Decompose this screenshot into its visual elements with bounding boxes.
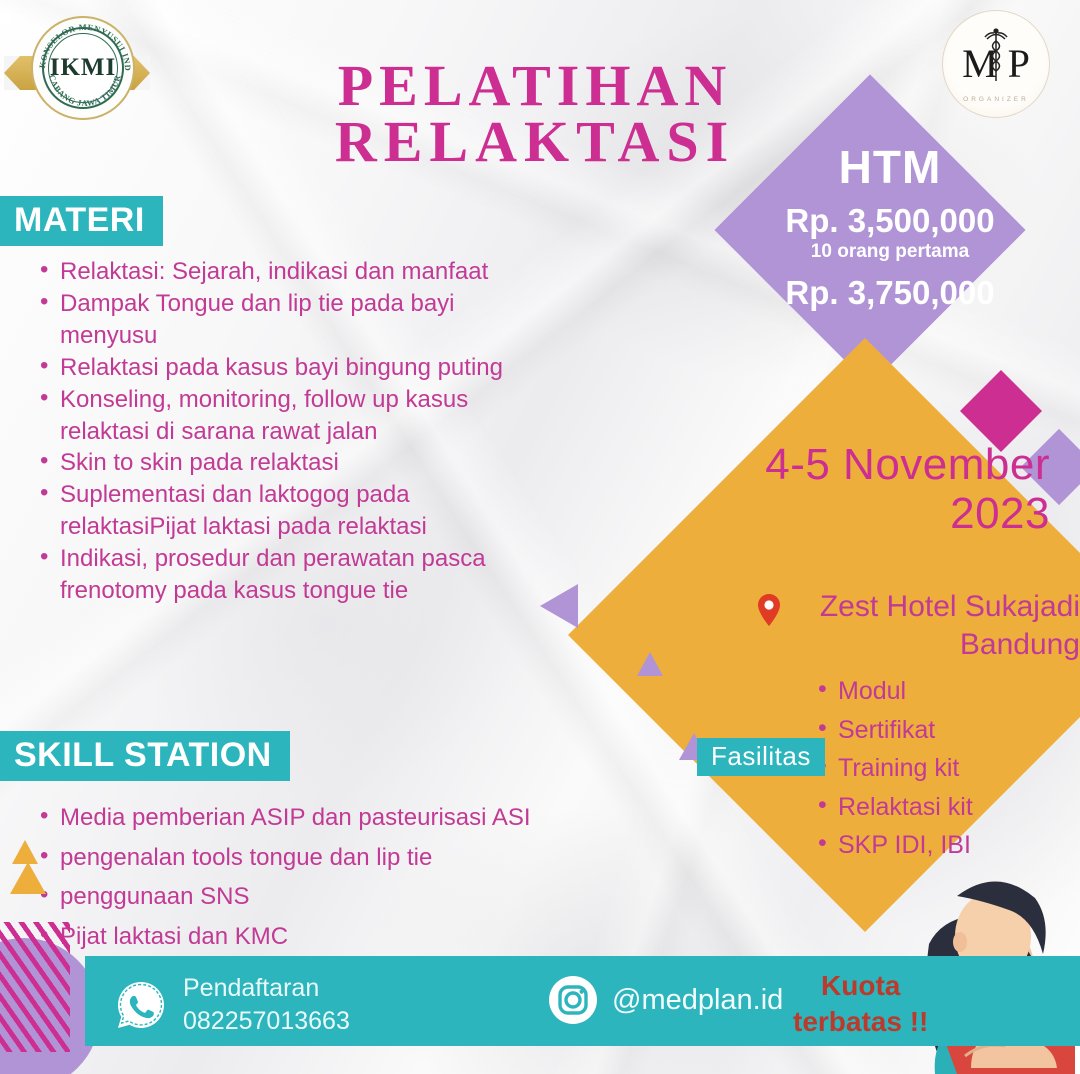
list-item: Indikasi, prosedur dan perawatan pasca f… xyxy=(40,543,518,607)
list-item: Media pemberian ASIP dan pasteurisasi AS… xyxy=(40,798,640,838)
title-line-1: PELATIHAN xyxy=(300,58,770,114)
list-item: Dampak Tongue dan lip tie pada bayi meny… xyxy=(40,288,518,352)
caduceus-icon xyxy=(981,27,1011,85)
map-pin-icon xyxy=(757,594,781,626)
instagram-handle: @medplan.id xyxy=(612,984,783,1017)
htm-title: HTM xyxy=(760,140,1020,194)
ikmi-monogram: IKMI xyxy=(33,18,133,118)
instagram-contact[interactable]: @medplan.id xyxy=(548,975,783,1025)
list-item: Relaktasi pada kasus bayi bingung puting xyxy=(40,352,518,384)
event-year: 2023 xyxy=(690,489,1050,538)
list-item: Relaktasi kit xyxy=(818,788,1068,827)
venue-line-2: Bandung xyxy=(735,626,1080,664)
quota-notice: Kuota terbatas !! xyxy=(793,968,928,1041)
event-date-block: 4-5 November 2023 xyxy=(690,440,1050,539)
htm-block: HTM Rp. 3,500,000 10 orang pertama Rp. 3… xyxy=(760,140,1020,312)
htm-price-early-note: 10 orang pertama xyxy=(760,241,1020,263)
list-item: Training kit xyxy=(818,749,1068,788)
list-item: Pijat laktasi dan KMC xyxy=(40,917,640,957)
list-item: SKP IDI, IBI xyxy=(818,826,1068,865)
poster-title: PELATIHAN RELAKTASI xyxy=(300,58,770,169)
whatsapp-text: Pendaftaran 082257013663 xyxy=(183,972,350,1038)
skill-station-list: Media pemberian ASIP dan pasteurisasi AS… xyxy=(40,798,640,956)
list-item: penggunaan SNS xyxy=(40,877,640,917)
triangle-decor-small xyxy=(637,652,663,676)
title-line-2: RELAKTASI xyxy=(300,114,770,170)
quota-line-2: terbatas !! xyxy=(793,1004,928,1040)
mp-subtitle: ORGANIZER xyxy=(943,96,1049,103)
yellow-triangle-decor-2 xyxy=(10,862,46,894)
materi-heading: MATERI xyxy=(0,196,163,246)
htm-price-regular: Rp. 3,750,000 xyxy=(760,274,1020,312)
event-venue-block: Zest Hotel Sukajadi Bandung xyxy=(735,588,1080,665)
event-date: 4-5 November xyxy=(690,440,1050,489)
list-item: Relaktasi: Sejarah, indikasi dan manfaat xyxy=(40,256,518,288)
yellow-triangle-decor-1 xyxy=(12,840,38,864)
fasilitas-list: Modul Sertifikat Training kit Relaktasi … xyxy=(818,672,1068,865)
list-item: pengenalan tools tongue dan lip tie xyxy=(40,838,640,878)
registration-label: Pendaftaran xyxy=(183,972,350,1005)
materi-list: Relaktasi: Sejarah, indikasi dan manfaat… xyxy=(40,256,518,607)
ikmi-logo: IKATAN KONSELOR MENYUSUI INDONESIA CABAN… xyxy=(18,14,136,132)
diagonal-stripes-decor xyxy=(0,922,70,1052)
mp-organizer-logo: MP ORGANIZER xyxy=(942,10,1050,118)
poster-root: IKATAN KONSELOR MENYUSUI INDONESIA CABAN… xyxy=(0,0,1080,1074)
whatsapp-contact[interactable]: Pendaftaran 082257013663 xyxy=(115,972,350,1038)
list-item: Skin to skin pada relaktasi xyxy=(40,447,518,479)
skill-station-heading: SKILL STATION xyxy=(0,731,290,781)
list-item: Suplementasi dan laktogog pada relaktasi… xyxy=(40,479,518,543)
quota-line-1: Kuota xyxy=(793,968,928,1004)
ikmi-seal: IKATAN KONSELOR MENYUSUI INDONESIA CABAN… xyxy=(31,16,135,120)
fasilitas-heading: Fasilitas xyxy=(697,738,825,776)
venue-line-1: Zest Hotel Sukajadi xyxy=(735,588,1080,626)
registration-phone: 082257013663 xyxy=(183,1005,350,1038)
htm-price-early: Rp. 3,500,000 xyxy=(760,202,1020,240)
list-item: Konseling, monitoring, follow up kasus r… xyxy=(40,384,518,448)
triangle-decor-large xyxy=(540,584,578,628)
list-item: Modul xyxy=(818,672,1068,711)
instagram-icon[interactable] xyxy=(548,975,598,1025)
list-item: Sertifikat xyxy=(818,711,1068,750)
whatsapp-icon[interactable] xyxy=(115,979,167,1031)
